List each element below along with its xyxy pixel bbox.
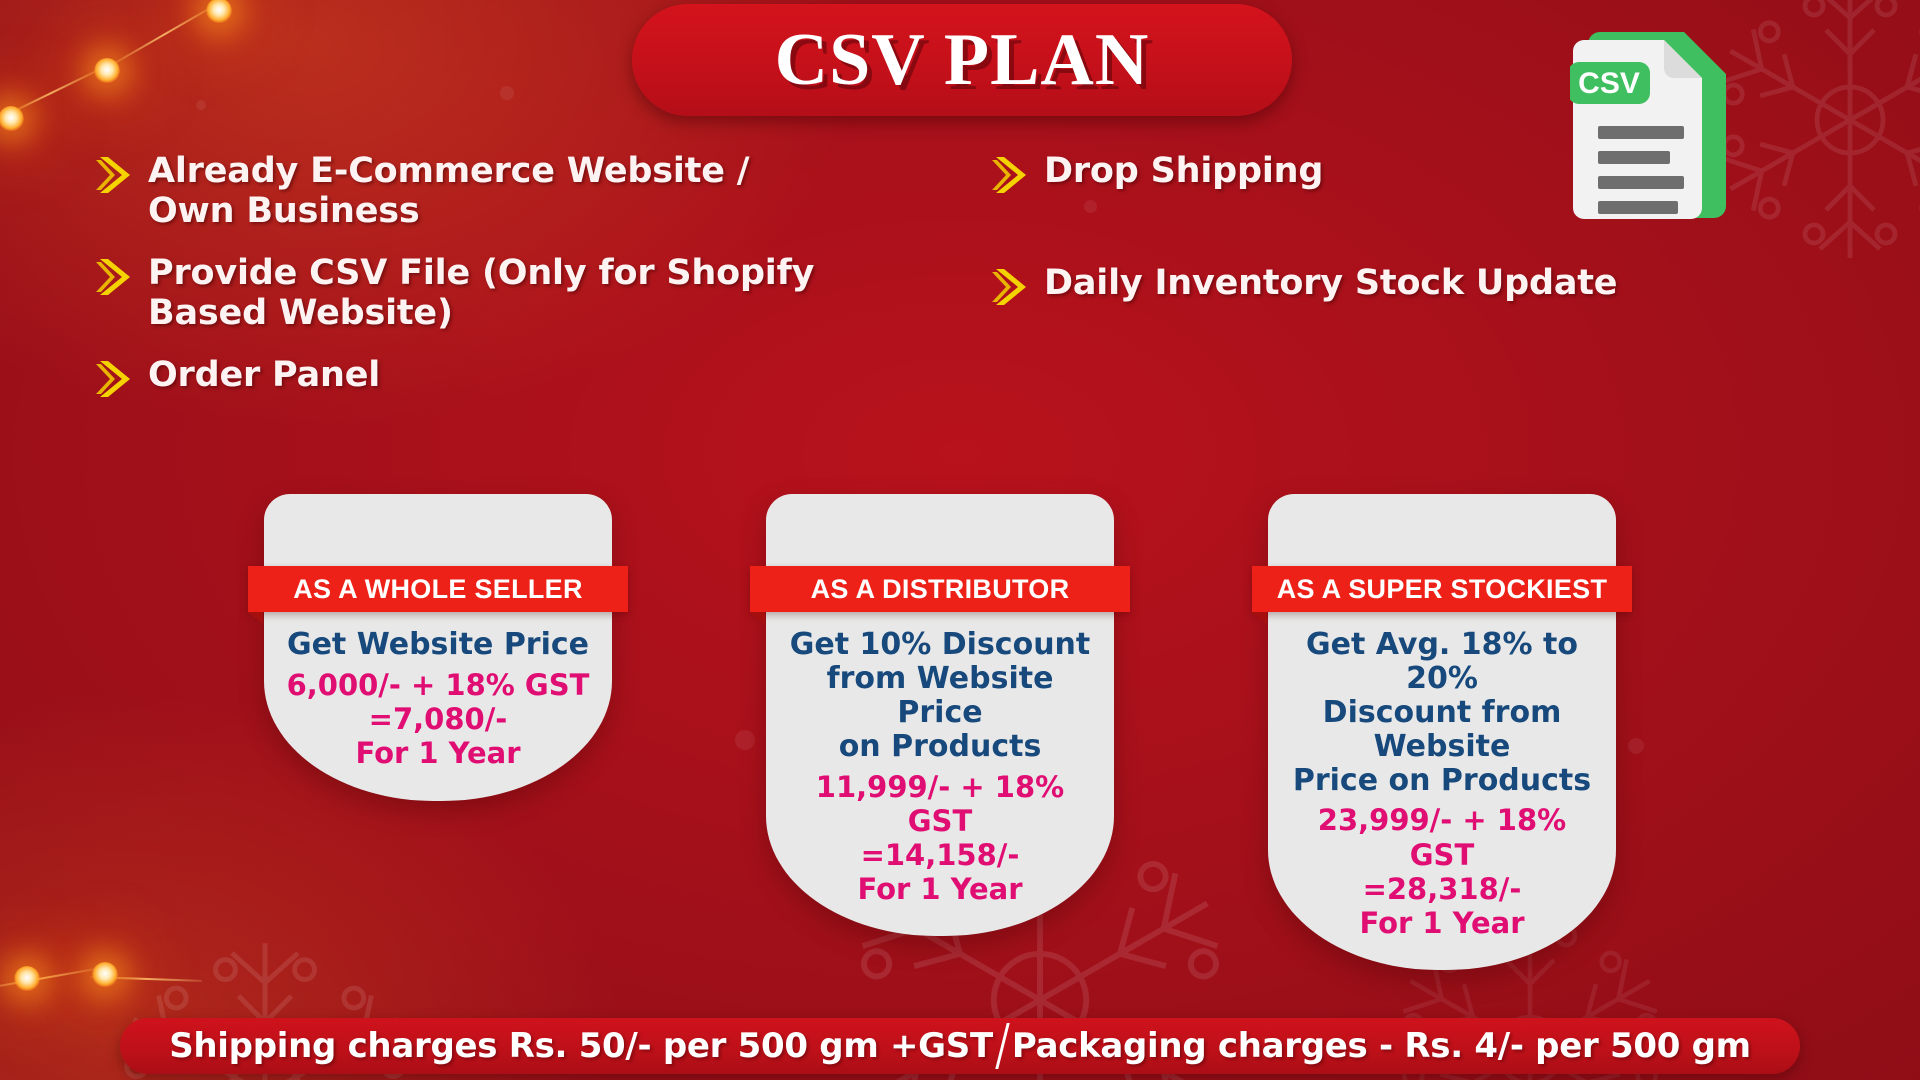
poster-canvas: CSV PLAN CSV xyxy=(0,0,1920,1080)
chevron-right-icon xyxy=(96,256,142,298)
plan-card-body: Get Website Price 6,000/- + 18% GST=7,08… xyxy=(264,612,612,801)
shipping-charges-label: Shipping charges Rs. 50/- per 500 gm +GS… xyxy=(169,1026,993,1066)
light-bulb xyxy=(94,58,120,84)
plan-ribbon-label: AS A WHOLE SELLER xyxy=(293,574,583,605)
plan-headline: Get Avg. 18% to 20%Discount fromWebsiteP… xyxy=(1284,628,1600,797)
background-dot xyxy=(1628,738,1644,754)
plan-ribbon: AS A DISTRIBUTOR xyxy=(750,566,1130,612)
plan-price: 23,999/- + 18% GST=28,318/-For 1 Year xyxy=(1284,803,1600,940)
page-title: CSV PLAN xyxy=(775,18,1150,103)
plan-ribbon-label: AS A DISTRIBUTOR xyxy=(811,574,1070,605)
feature-label: Drop Shipping xyxy=(1044,152,1323,192)
plan-card-body: Get Avg. 18% to 20%Discount fromWebsiteP… xyxy=(1268,612,1616,970)
csv-badge-label: CSV xyxy=(1578,67,1640,100)
background-dot xyxy=(500,86,514,100)
plan-ribbon-label: AS A SUPER STOCKIEST xyxy=(1277,574,1608,605)
feature-label: Daily Inventory Stock Update xyxy=(1044,264,1617,304)
feature-label: Provide CSV File (Only for ShopifyBased … xyxy=(148,254,814,334)
title-banner: CSV PLAN xyxy=(632,4,1292,116)
background-dot xyxy=(735,730,755,750)
feature-item: Provide CSV File (Only for ShopifyBased … xyxy=(96,254,956,334)
light-bulb xyxy=(206,0,232,24)
feature-list-right: Drop Shipping Daily Inventory Stock Upda… xyxy=(992,152,1752,376)
chevron-right-icon xyxy=(992,266,1038,308)
plan-card-distributor[interactable]: AS A DISTRIBUTOR Get 10% Discountfrom We… xyxy=(766,494,1114,936)
card-top-spacer xyxy=(264,494,612,566)
card-top-spacer xyxy=(1268,494,1616,566)
chevron-right-icon xyxy=(96,358,142,400)
plan-price: 11,999/- + 18% GST=14,158/-For 1 Year xyxy=(782,770,1098,907)
feature-list-left: Already E-Commerce Website /Own Business… xyxy=(96,152,956,422)
charges-banner: Shipping charges Rs. 50/- per 500 gm +GS… xyxy=(120,1018,1800,1074)
plan-ribbon: AS A SUPER STOCKIEST xyxy=(1252,566,1632,612)
feature-item: Already E-Commerce Website /Own Business xyxy=(96,152,956,232)
plan-card-super-stockiest[interactable]: AS A SUPER STOCKIEST Get Avg. 18% to 20%… xyxy=(1268,494,1616,970)
light-bulb xyxy=(92,962,118,988)
plan-ribbon: AS A WHOLE SELLER xyxy=(248,566,628,612)
feature-item: Order Panel xyxy=(96,356,956,400)
plan-card-body: Get 10% Discountfrom Website Priceon Pro… xyxy=(766,612,1114,936)
packaging-charges-label: Packaging charges - Rs. 4/- per 500 gm xyxy=(1012,1026,1751,1066)
plan-card-whole-seller[interactable]: AS A WHOLE SELLER Get Website Price 6,00… xyxy=(264,494,612,801)
background-dot xyxy=(196,100,206,110)
light-bulb xyxy=(0,106,24,132)
plan-headline: Get 10% Discountfrom Website Priceon Pro… xyxy=(782,628,1098,764)
chevron-right-icon xyxy=(992,154,1038,196)
chevron-right-icon xyxy=(96,154,142,196)
plan-headline: Get Website Price xyxy=(280,628,596,662)
card-top-spacer xyxy=(766,494,1114,566)
feature-item: Daily Inventory Stock Update xyxy=(992,264,1752,308)
feature-item: Drop Shipping xyxy=(992,152,1752,196)
plan-price: 6,000/- + 18% GST=7,080/-For 1 Year xyxy=(280,668,596,771)
feature-label: Order Panel xyxy=(148,356,380,396)
banner-divider xyxy=(995,1023,1009,1069)
feature-label: Already E-Commerce Website /Own Business xyxy=(148,152,749,232)
light-bulb xyxy=(14,966,40,992)
